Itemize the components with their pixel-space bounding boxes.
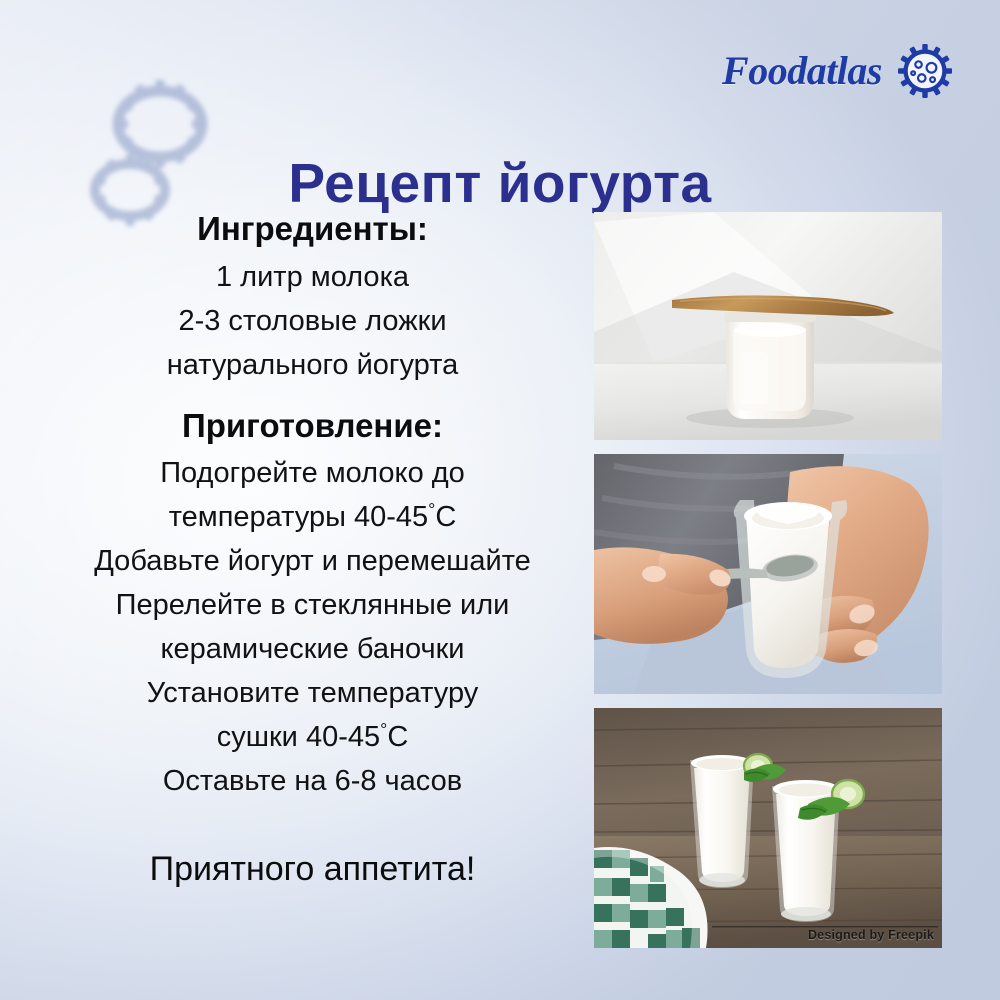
preparation-step: температуры 40-45°C xyxy=(40,495,585,539)
step-text: Добавьте йогурт и перемешайте xyxy=(94,545,531,577)
step-text: Установите температуру xyxy=(147,677,479,709)
photo-two-glasses-of-yogurt-drink: Designed by Freepik xyxy=(594,708,942,948)
preparation-step: Подогрейте молоко до xyxy=(40,451,585,495)
recipe-text-column: Ингредиенты: 1 литр молока 2-3 столовые … xyxy=(40,208,585,890)
preparation-step: Добавьте йогурт и перемешайте xyxy=(40,539,585,583)
step-unit: C xyxy=(387,721,408,753)
step-text: сушки 40-45 xyxy=(217,721,380,753)
preparation-step: керамические баночки xyxy=(40,627,585,671)
page-title: Рецепт йогурта xyxy=(0,153,1000,214)
step-text: температуры 40-45 xyxy=(169,501,428,533)
brand-logo[interactable]: Foodatlas xyxy=(722,44,952,98)
closing-message: Приятного аппетита! xyxy=(40,849,585,890)
ingredients-heading: Ингредиенты: xyxy=(40,208,585,249)
preparation-step: Перелейте в стеклянные или xyxy=(40,583,585,627)
photo-stack: Designed by Freepik xyxy=(594,212,942,948)
freepik-credit: Designed by Freepik xyxy=(808,928,934,942)
step-text: керамические баночки xyxy=(161,633,465,665)
ingredient-item: 2-3 столовые ложки xyxy=(40,299,585,343)
step-text: Подогрейте молоко до xyxy=(160,457,465,489)
brand-name: Foodatlas xyxy=(722,51,882,91)
preparation-step: сушки 40-45°C xyxy=(40,715,585,759)
photo-hands-holding-yogurt-jar xyxy=(594,454,942,694)
photo-yogurt-jar-with-wooden-spoon xyxy=(594,212,942,440)
ingredient-item: 1 литр молока xyxy=(40,255,585,299)
step-text: Оставьте на 6-8 часов xyxy=(163,765,462,797)
step-text: Перелейте в стеклянные или xyxy=(116,589,510,621)
recipe-poster: Foodatlas xyxy=(0,0,1000,1000)
preparation-heading: Приготовление: xyxy=(40,405,585,446)
gear-globe-icon xyxy=(898,44,952,98)
preparation-step: Установите температуру xyxy=(40,671,585,715)
ingredient-item: натурального йогурта xyxy=(40,343,585,387)
step-unit: C xyxy=(435,501,456,533)
preparation-step: Оставьте на 6-8 часов xyxy=(40,759,585,803)
